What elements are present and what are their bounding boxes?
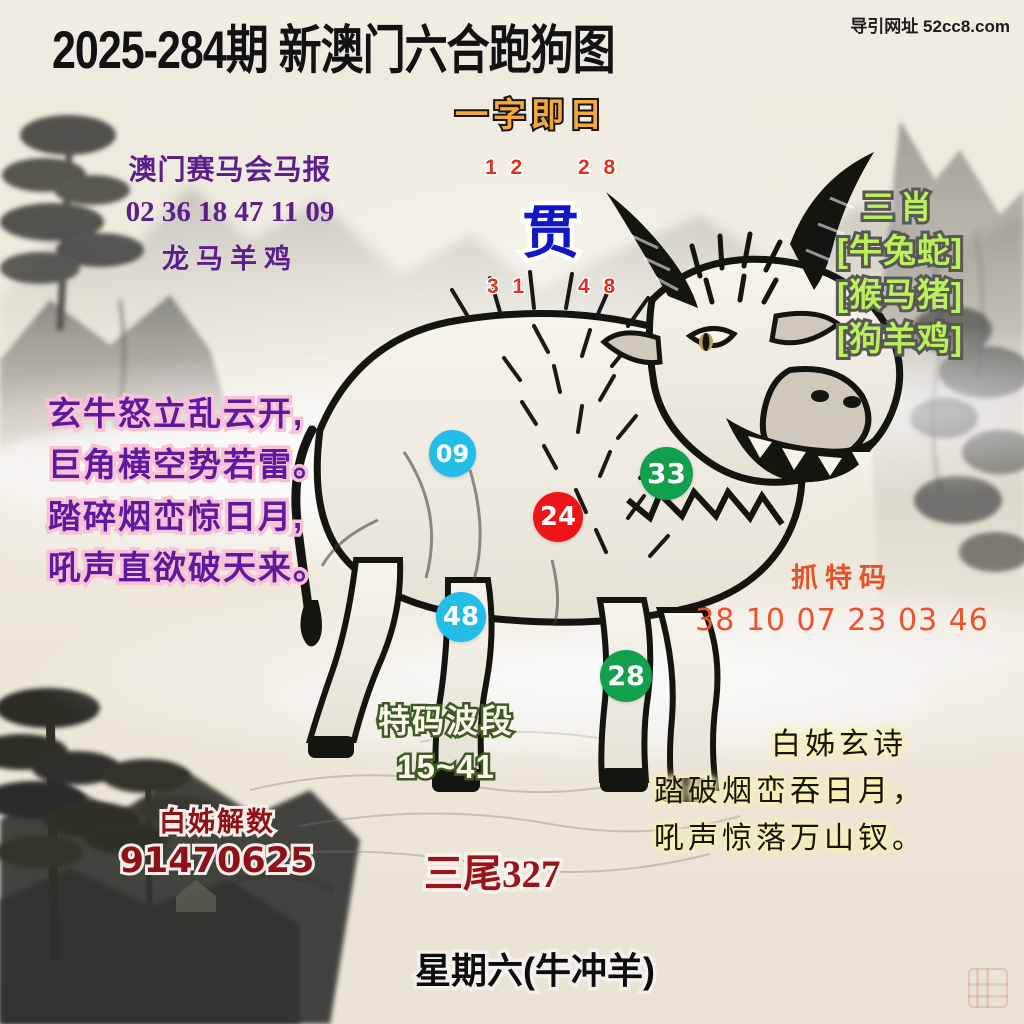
special-code-numbers: 38 10 07 23 03 46 [660, 603, 1024, 638]
corner-number-bottom-left: 3 1 [487, 275, 528, 300]
right-poem-line-2: 吼声惊落万山钗。 [654, 816, 1024, 863]
red-seal-stamp [968, 968, 1008, 1008]
right-poem-block: 白姊玄诗 踏破烟峦吞日月， 吼声惊落万山钗。 [654, 722, 1024, 862]
jieshu-block: 白姊解数 91470625 [92, 800, 342, 881]
left-poem-line-3: 踏碎烟峦惊日月, [48, 491, 328, 542]
left-poem-line-1: 玄牛怒立乱云开, [48, 388, 328, 439]
yizi-jiri-label: 一字即日 [455, 96, 607, 135]
jieshu-title: 白姊解数 [92, 800, 342, 839]
three-zodiac-block: 三肖 [牛兔蛇] [猴马猪] [狗羊鸡] [786, 186, 1014, 362]
three-zodiac-row-3: [狗羊鸡] [786, 317, 1014, 361]
number-ball: 09 [429, 430, 476, 477]
corner-number-bottom-right: 4 8 [578, 275, 619, 300]
left-poem-line-2: 巨角横空势若雷。 [48, 439, 328, 490]
three-tail-label: 三尾327 [424, 852, 561, 898]
left-poem: 玄牛怒立乱云开, 巨角横空势若雷。 踏碎烟峦惊日月, 吼声直欲破天来。 [48, 388, 328, 594]
special-code-block: 抓特码 38 10 07 23 03 46 [660, 556, 1024, 638]
three-zodiac-row-2: [猴马猪] [786, 273, 1014, 317]
corner-number-top-left: 1 2 [485, 156, 526, 181]
right-poem-line-1: 踏破烟峦吞日月， [654, 769, 1024, 816]
number-ball: 33 [640, 447, 693, 500]
wave-band-range: 15~41 [330, 748, 562, 786]
number-ball: 24 [533, 492, 583, 542]
special-code-title: 抓特码 [660, 556, 1024, 595]
horse-report-zodiac: 龙马羊鸡 [80, 237, 380, 276]
left-poem-line-4: 吼声直欲破天来。 [48, 542, 328, 593]
three-zodiac-title: 三肖 [786, 186, 1014, 229]
wave-band-title: 特码波段 [330, 696, 562, 742]
riddle-character: 贯 [522, 200, 579, 267]
page-title: 2025-284期 新澳门六合跑狗图 [52, 8, 615, 84]
number-ball: 48 [436, 592, 486, 642]
corner-number-top-right: 2 8 [578, 156, 619, 181]
horse-report-numbers: 02 36 18 47 11 09 [80, 196, 380, 229]
jieshu-numbers: 91470625 [92, 841, 342, 881]
number-ball: 28 [600, 650, 652, 702]
right-poem-title: 白姊玄诗 [654, 722, 1024, 769]
poster-canvas: 2025-284期 新澳门六合跑狗图 导引网址 52cc8.com 一字即日 1… [0, 0, 1024, 1024]
site-watermark: 导引网址 52cc8.com [850, 12, 1010, 37]
horse-report-title: 澳门赛马会马报 [80, 148, 380, 188]
wave-band-block: 特码波段 15~41 [330, 696, 562, 786]
horse-report-block: 澳门赛马会马报 02 36 18 47 11 09 龙马羊鸡 [80, 148, 380, 276]
weekday-label: 星期六(牛冲羊) [415, 950, 655, 992]
three-zodiac-row-1: [牛兔蛇] [786, 229, 1014, 273]
